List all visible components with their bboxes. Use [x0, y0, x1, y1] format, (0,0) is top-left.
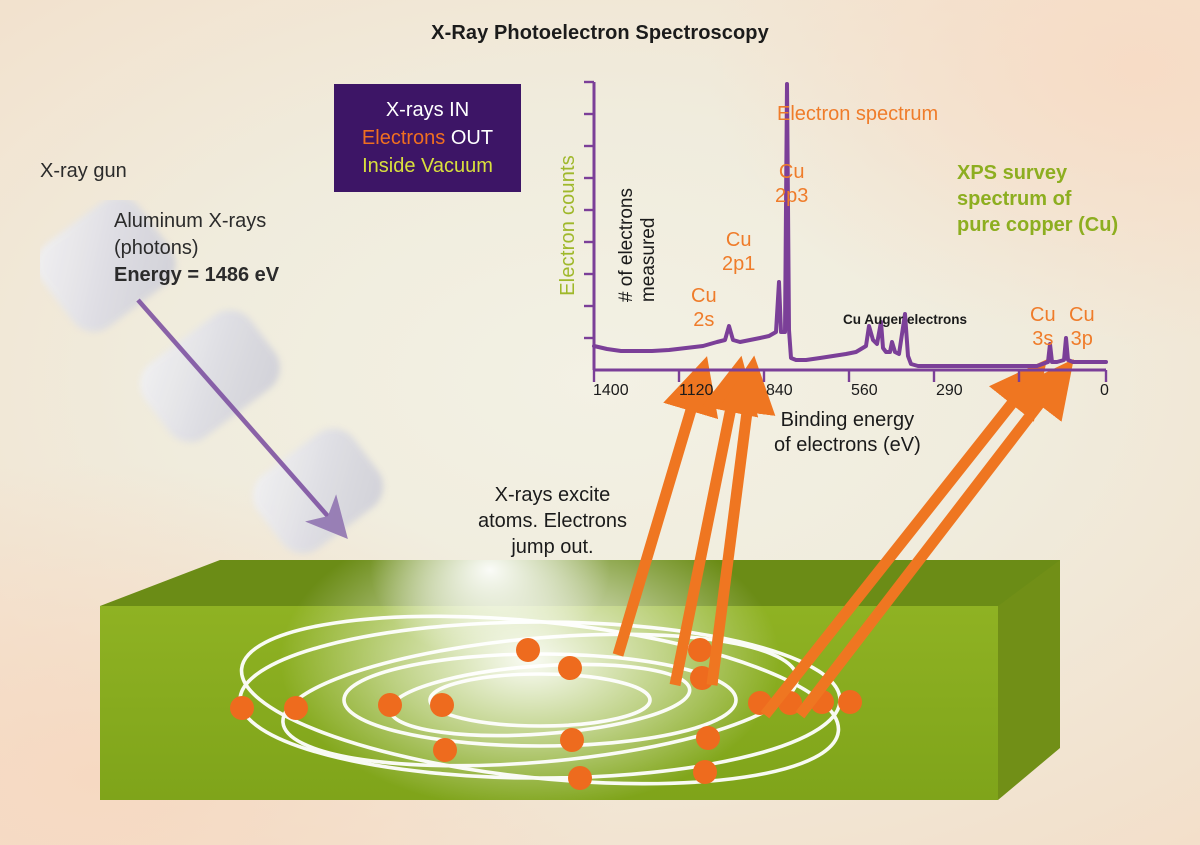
photon-line-1: Aluminum X-rays — [114, 208, 279, 235]
peak-label-cu-2s: Cu2s — [691, 284, 717, 332]
callout-electrons-word: Electrons — [362, 127, 445, 149]
xtick-0: 0 — [1100, 382, 1109, 400]
peak-label-cu-auger: Cu Auger electrons — [843, 312, 967, 327]
slab-right-face — [998, 560, 1060, 800]
electron-dots — [230, 638, 862, 790]
peak-label-cu-2p3: Cu2p3 — [775, 160, 808, 208]
photon-energy-value: Energy = 1486 eV — [114, 262, 279, 289]
beam-arrow — [138, 300, 340, 530]
sample-caption: X-rays excite atoms. Electrons jump out. — [478, 482, 627, 560]
xtick-290: 290 — [936, 382, 963, 400]
arrow-to-cu2p1 — [675, 373, 738, 685]
photon-energy-block: Aluminum X-rays (photons) Energy = 1486 … — [114, 208, 279, 289]
sample-slab-graphic — [60, 550, 1070, 845]
y-axis-label-secondary: # of electronsmeasured — [616, 188, 660, 302]
peak-label-cu-3s: Cu3s — [1030, 303, 1056, 351]
emission-arrows — [0, 0, 1200, 845]
xtick-1120: 1120 — [679, 382, 713, 400]
x-axis-label: Binding energyof electrons (eV) — [774, 408, 921, 458]
sample-caption-line-1: X-rays excite — [478, 482, 627, 508]
gun-cap-2 — [130, 300, 291, 453]
xtick-560: 560 — [851, 382, 878, 400]
xtick-840: 840 — [766, 382, 793, 400]
vacuum-callout-box: X-rays IN Electrons OUT Inside Vacuum — [334, 84, 521, 192]
electron-orbits — [233, 591, 846, 809]
callout-line-inside-vacuum: Inside Vacuum — [362, 153, 493, 179]
peak-label-cu-2p1: Cu2p1 — [722, 228, 755, 276]
slab-top-face — [100, 560, 1060, 606]
sample-caption-line-3: jump out. — [478, 534, 627, 560]
y-axis-ticks — [584, 82, 594, 338]
xtick-1400: 1400 — [593, 382, 629, 400]
slab-front-face — [100, 606, 998, 800]
peak-label-cu-3p: Cu3p — [1069, 303, 1095, 351]
beam-glow-2 — [370, 550, 610, 660]
photon-line-2: (photons) — [114, 235, 279, 262]
callout-line-electrons-out: Electrons OUT — [362, 125, 493, 151]
x-axis-ticks — [594, 370, 1106, 382]
xray-gun-label: X-ray gun — [40, 160, 127, 183]
sample-caption-line-2: atoms. Electrons — [478, 508, 627, 534]
chart-subtitle: XPS surveyspectrum ofpure copper (Cu) — [957, 160, 1118, 238]
gun-cap-3 — [242, 418, 393, 564]
diagram-canvas: X-Ray Photoelectron Spectroscopy X-ray g… — [0, 0, 1200, 845]
beam-glow — [280, 550, 780, 810]
callout-line-xrays-in: X-rays IN — [386, 97, 469, 123]
arrow-to-cu2p3 — [712, 373, 752, 685]
chart-title: Electron spectrum — [777, 103, 938, 126]
y-axis-label: Electron counts — [557, 155, 580, 296]
arrow-to-cu2s — [618, 373, 702, 655]
page-title: X-Ray Photoelectron Spectroscopy — [0, 22, 1200, 45]
callout-out-word: OUT — [451, 127, 493, 149]
